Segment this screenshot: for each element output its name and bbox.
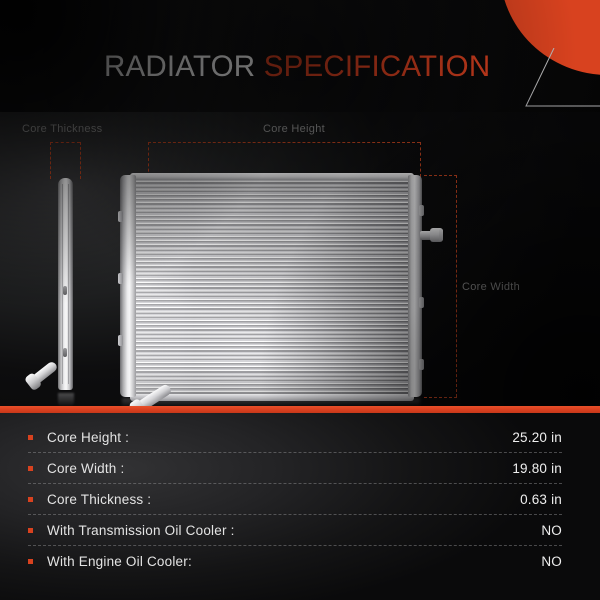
product-image-panel: RADIATOR SPECIFICATION Core Thickness Co… bbox=[0, 0, 600, 406]
spec-label: With Engine Oil Cooler: bbox=[47, 554, 192, 569]
callout-width-top bbox=[424, 175, 457, 176]
corner-accent-shape bbox=[500, 0, 600, 75]
spec-row-engine-oil-cooler: With Engine Oil Cooler: NO bbox=[28, 545, 562, 576]
callout-height-right bbox=[420, 142, 421, 177]
callout-thickness-left bbox=[50, 142, 51, 179]
spec-label: With Transmission Oil Cooler : bbox=[47, 523, 235, 538]
spec-value: 25.20 in bbox=[512, 430, 562, 445]
spec-value: 0.63 in bbox=[520, 492, 562, 507]
radiator-reflection bbox=[122, 398, 420, 406]
spec-row-transmission-oil-cooler: With Transmission Oil Cooler : NO bbox=[28, 514, 562, 545]
side-view-seam-right bbox=[68, 184, 69, 384]
callout-thickness-right bbox=[80, 142, 81, 179]
inlet-fitting-ring bbox=[439, 229, 443, 241]
specification-list: Core Height : 25.20 in Core Width : 19.8… bbox=[28, 422, 562, 576]
radiator-side-view bbox=[55, 178, 76, 393]
section-divider bbox=[0, 406, 600, 413]
side-view-reflection bbox=[58, 393, 74, 406]
side-view-mount-hole-lower bbox=[63, 348, 67, 357]
page-title: RADIATOR SPECIFICATION bbox=[104, 50, 490, 84]
radiator-inlet-fitting bbox=[420, 227, 444, 242]
radiator-mount-lug-left-1 bbox=[118, 211, 123, 222]
spec-row-core-width: Core Width : 19.80 in bbox=[28, 452, 562, 483]
callout-height-left bbox=[148, 142, 149, 177]
radiator-top-rail bbox=[130, 173, 414, 180]
spec-row-core-height: Core Height : 25.20 in bbox=[28, 422, 562, 452]
radiator-front-view bbox=[120, 177, 420, 397]
callout-width-right bbox=[456, 175, 457, 397]
bullet-square-icon bbox=[28, 466, 33, 471]
bullet-square-icon bbox=[28, 528, 33, 533]
title-specification: SPECIFICATION bbox=[264, 50, 491, 83]
spec-label: Core Height : bbox=[47, 430, 129, 445]
radiator-mount-lug-left-2 bbox=[118, 273, 123, 284]
dimension-label-core-width: Core Width bbox=[462, 281, 520, 293]
dimension-label-core-height: Core Height bbox=[263, 123, 325, 135]
spec-label: Core Thickness : bbox=[47, 492, 151, 507]
callout-height-top bbox=[148, 142, 420, 143]
dimension-label-core-thickness: Core Thickness bbox=[22, 123, 102, 135]
bullet-square-icon bbox=[28, 435, 33, 440]
header-band: RADIATOR SPECIFICATION bbox=[0, 0, 600, 112]
radiator-mount-lug-right-2 bbox=[419, 297, 424, 308]
title-radiator: RADIATOR bbox=[104, 50, 255, 83]
side-view-mount-hole-upper bbox=[63, 286, 67, 295]
callout-thickness-top bbox=[50, 142, 80, 143]
spec-row-core-thickness: Core Thickness : 0.63 in bbox=[28, 483, 562, 514]
spec-label: Core Width : bbox=[47, 461, 124, 476]
radiator-core-shading bbox=[134, 177, 410, 397]
spec-value: NO bbox=[541, 554, 562, 569]
spec-value: NO bbox=[541, 523, 562, 538]
radiator-mount-lug-right-1 bbox=[419, 205, 424, 216]
bullet-square-icon bbox=[28, 497, 33, 502]
specification-panel: Core Height : 25.20 in Core Width : 19.8… bbox=[0, 413, 600, 600]
radiator-mount-lug-left-3 bbox=[118, 335, 123, 346]
radiator-core-fins bbox=[134, 177, 410, 397]
side-view-body bbox=[58, 178, 73, 390]
radiator-specification-card: RADIATOR SPECIFICATION Core Thickness Co… bbox=[0, 0, 600, 600]
callout-width-bottom bbox=[424, 397, 457, 398]
radiator-mount-lug-right-3 bbox=[419, 359, 424, 370]
radiator-left-tank bbox=[120, 175, 136, 397]
bullet-square-icon bbox=[28, 559, 33, 564]
spec-value: 19.80 in bbox=[512, 461, 562, 476]
